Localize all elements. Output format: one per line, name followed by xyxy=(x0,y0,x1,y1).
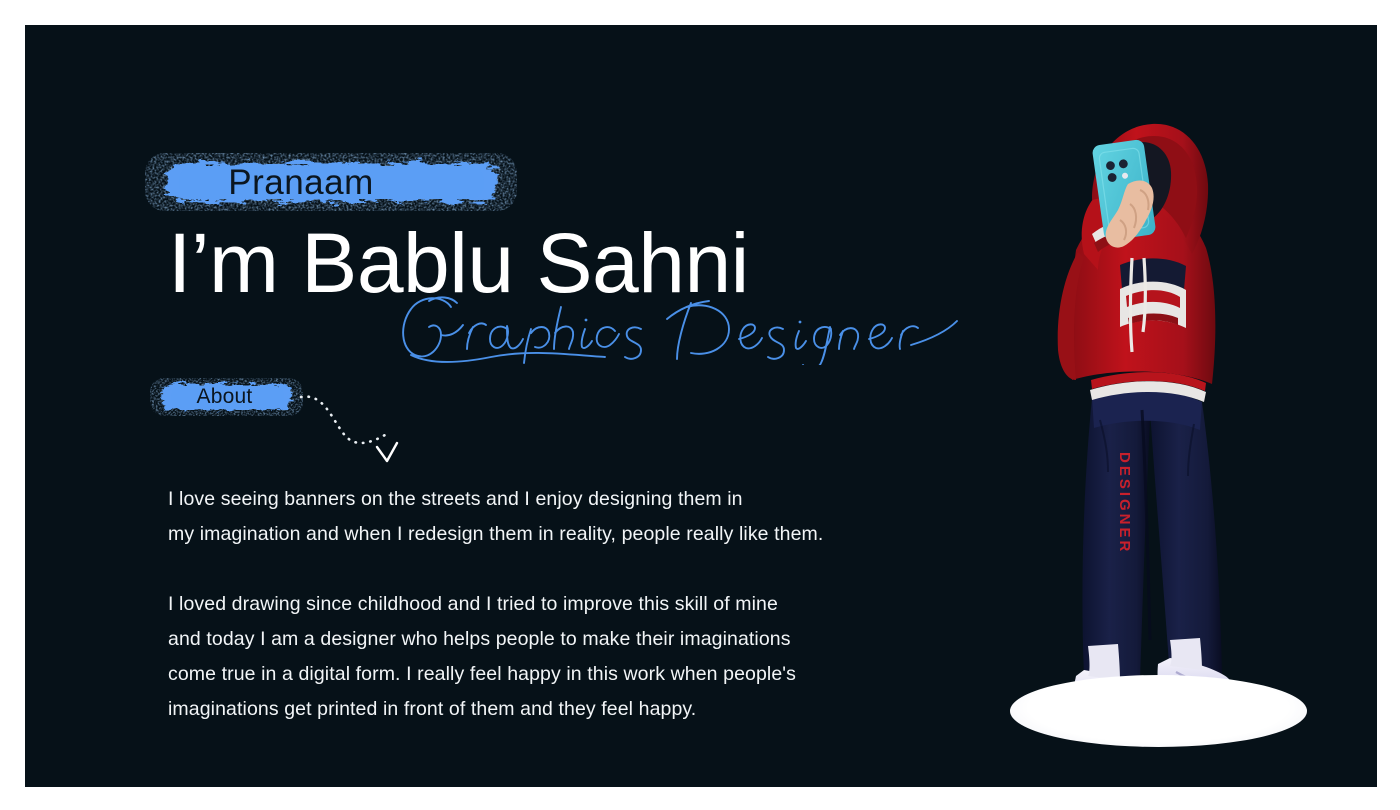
platform-ellipse xyxy=(1010,675,1307,747)
about-paragraph: I loved drawing since childhood and I tr… xyxy=(168,587,1028,727)
greeting-badge: Pranaam xyxy=(143,151,519,213)
script-subtitle-art xyxy=(391,293,971,365)
person-illustration: DESIGNER xyxy=(980,80,1320,760)
pants-text: DESIGNER xyxy=(1116,452,1133,554)
section-badge-label: About xyxy=(197,385,253,409)
slide-background: Pranaam I’m Bablu Sahni xyxy=(25,25,1377,787)
script-subtitle xyxy=(391,293,971,363)
slide-canvas: Pranaam I’m Bablu Sahni xyxy=(0,0,1400,810)
dotted-curved-arrow-icon xyxy=(297,391,417,477)
portrait-photo: DESIGNER xyxy=(980,80,1320,760)
about-paragraph: I love seeing banners on the streets and… xyxy=(168,482,1028,552)
section-badge: About xyxy=(149,377,304,417)
greeting-badge-label: Pranaam xyxy=(228,163,374,203)
